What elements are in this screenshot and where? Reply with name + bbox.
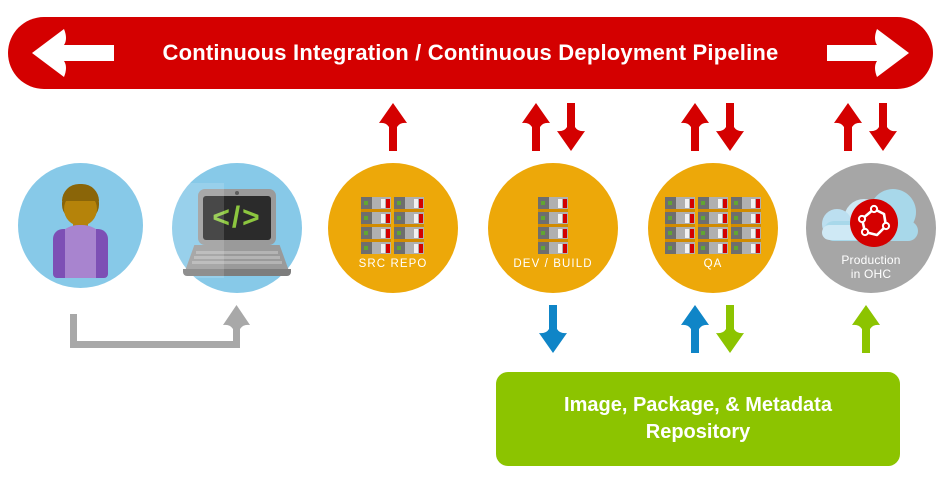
cicd-pipeline-diagram: Continuous Integration / Continuous Depl… [0,0,941,500]
server-rack-icon [361,197,425,254]
node-label-src-repo: SRC REPO [328,258,458,271]
arrow-right-icon [825,26,911,80]
arrow-down-dev-build-repo [538,305,568,353]
person-avatar-icon [18,163,143,288]
arrow-up-qa-repo [680,305,710,353]
node-production[interactable]: Production in OHC [806,163,936,293]
arrow-down-production [868,103,898,151]
repository-box[interactable]: Image, Package, & Metadata Repository [496,372,900,466]
cloud-openshift-icon [814,185,928,255]
node-label-qa: QA [648,258,778,271]
pipeline-banner: Continuous Integration / Continuous Depl… [8,17,933,89]
server-rack-icon [538,197,568,254]
node-workstation[interactable]: </> [172,163,302,293]
arrow-up-dev-build [521,103,551,151]
laptop-code-icon: </> [172,163,302,293]
arrow-up-qa [680,103,710,151]
arrow-down-qa-repo [715,305,745,353]
repository-label-line1: Image, Package, & Metadata [564,392,832,419]
node-src-repo[interactable]: SRC REPO [328,163,458,293]
arrow-up-src-repo [378,103,408,151]
node-developer[interactable] [18,163,143,288]
node-label-production-line2: in OHC [806,267,936,281]
page-title: Continuous Integration / Continuous Depl… [8,17,933,89]
arrow-down-qa [715,103,745,151]
repository-label-line2: Repository [646,419,750,446]
arrow-down-dev-build [556,103,586,151]
node-dev-build[interactable]: DEV / BUILD [488,163,618,293]
arrow-up-production-repo [851,305,881,353]
arrow-up-production [833,103,863,151]
node-qa[interactable]: QA [648,163,778,293]
openshift-logo-icon [850,199,898,247]
server-rack-icon [665,197,761,254]
node-label-production-line1: Production [806,253,936,267]
node-label-dev-build: DEV / BUILD [488,258,618,271]
